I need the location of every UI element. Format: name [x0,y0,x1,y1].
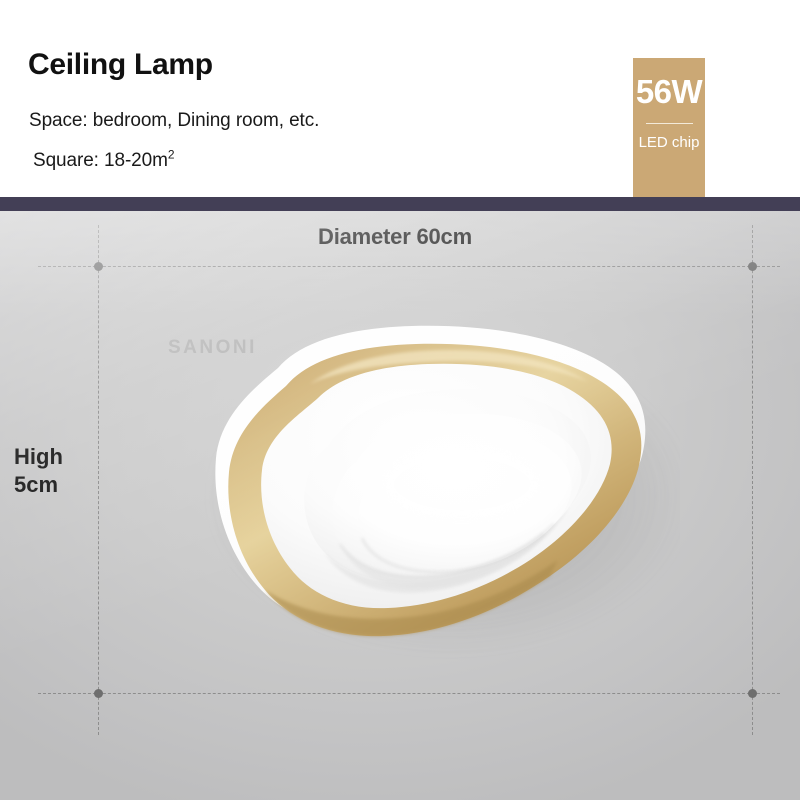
spec-square-superscript: 2 [168,148,175,162]
badge-caption: LED chip [639,135,700,150]
page-title: Ceiling Lamp [28,50,213,80]
guide-marker-bottom-left [94,689,103,698]
wattage-value: 56W [636,75,702,108]
wattage-badge: 56W LED chip [633,58,705,197]
spec-space-text: Space: bedroom, Dining room, etc. [29,111,319,130]
lamp-shade-top-highlight [386,450,538,518]
product-photo-panel: SANONI [0,211,800,800]
height-label-line-2: 5cm [14,471,63,499]
height-label: High 5cm [14,443,63,499]
product-spec-image: Ceiling Lamp Space: bedroom, Dining room… [0,0,800,800]
lamp-illustration [150,306,680,666]
guide-line-right [752,225,753,735]
spec-square-value: Square: 18-20m [33,150,168,171]
spec-square-text: Square: 18-20m2 [33,151,174,170]
guide-marker-top-right [748,262,757,271]
ceiling-lamp-image [150,306,680,666]
header-panel: Ceiling Lamp Space: bedroom, Dining room… [0,0,800,197]
guide-line-bottom [38,693,780,694]
badge-divider [646,123,693,124]
guide-marker-top-left [94,262,103,271]
diameter-label: Diameter 60cm [318,224,472,250]
guide-line-top [38,266,780,267]
guide-marker-bottom-right [748,689,757,698]
guide-line-left [98,225,99,735]
section-divider-bar [0,197,800,211]
height-label-line-1: High [14,443,63,471]
